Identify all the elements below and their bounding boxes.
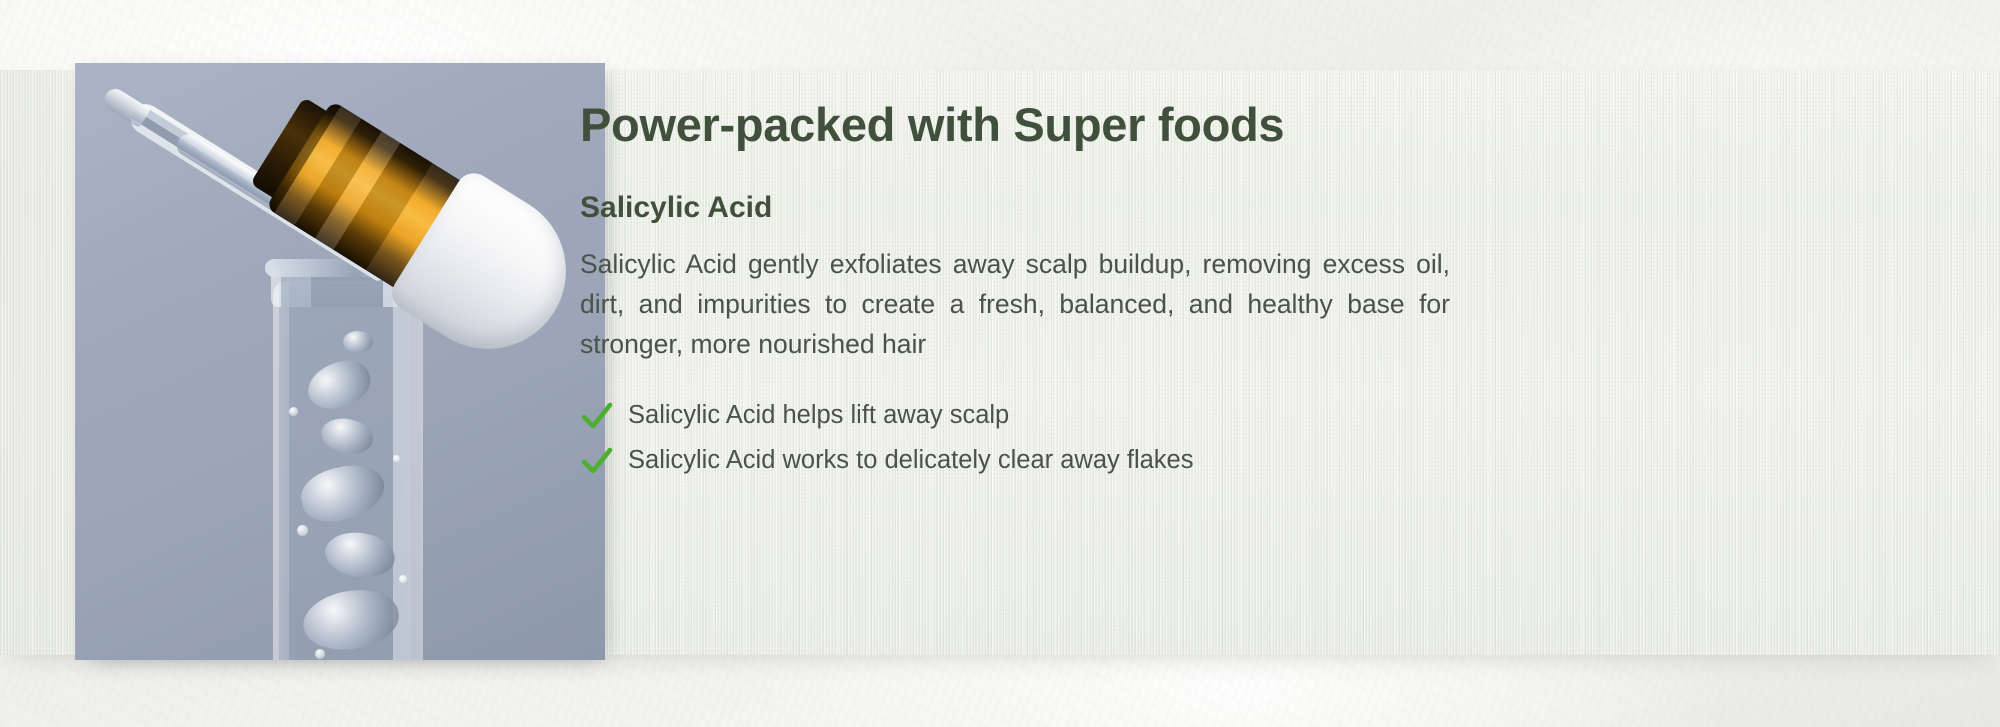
air-bubble — [315, 649, 325, 659]
benefit-text: Salicylic Acid works to delicately clear… — [628, 444, 1193, 477]
benefit-text: Salicylic Acid helps lift away scalp — [628, 399, 1009, 432]
product-image-scene — [75, 63, 605, 660]
air-bubble — [289, 407, 298, 416]
list-item: Salicylic Acid works to delicately clear… — [580, 444, 1460, 478]
page-title: Power-packed with Super foods — [580, 100, 1460, 149]
air-bubble — [297, 525, 308, 536]
air-bubble — [399, 575, 407, 583]
content-column: Power-packed with Super foods Salicylic … — [580, 100, 1460, 489]
list-item: Salicylic Acid helps lift away scalp — [580, 399, 1460, 433]
check-icon — [580, 399, 614, 433]
product-image — [75, 63, 605, 660]
air-bubble — [393, 455, 400, 462]
ingredient-name: Salicylic Acid — [580, 191, 1460, 225]
ingredient-description: Salicylic Acid gently exfoliates away sc… — [580, 245, 1450, 364]
gel-bubble — [343, 331, 373, 353]
benefit-list: Salicylic Acid helps lift away scalp Sal… — [580, 399, 1460, 478]
check-icon — [580, 444, 614, 478]
